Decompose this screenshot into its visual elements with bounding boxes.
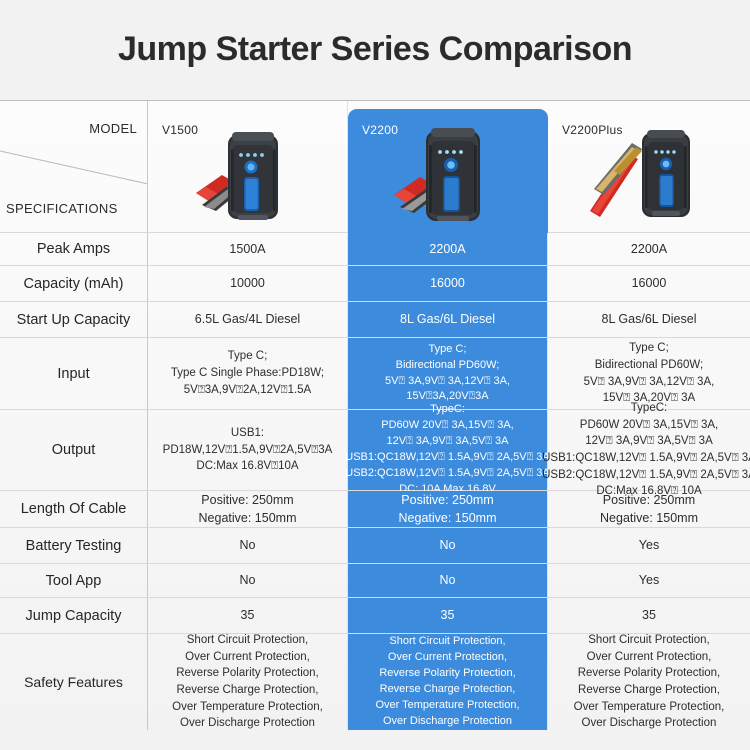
value-cell-v2200: TypeC:PD60W 20V⍰ 3A,15V⍰ 3A,12V⍰ 3A,9V⍰ … bbox=[348, 410, 548, 490]
value-line: Reverse Polarity Protection, bbox=[375, 666, 519, 682]
value-cell-v1500: No bbox=[148, 528, 348, 563]
value-line: 6.5L Gas/4L Diesel bbox=[195, 310, 300, 328]
comparison-table: MODEL SPECIFICATIONS V1500 bbox=[0, 100, 750, 750]
value-line: Yes bbox=[639, 571, 659, 589]
value-cell-v2200plus: TypeC:PD60W 20V⍰ 3A,15V⍰ 3A,12V⍰ 3A,9V⍰ … bbox=[548, 410, 750, 490]
product-column-header-v1500[interactable]: V1500 bbox=[148, 101, 348, 232]
table-row: Battery TestingNoNoYes bbox=[0, 528, 750, 564]
value-line: 5V⍰3A,9V⍰2A,12V⍰1.5A bbox=[171, 382, 324, 399]
value-line: Bidirectional PD60W; bbox=[385, 358, 510, 374]
header-corner-cell: MODEL SPECIFICATIONS bbox=[0, 101, 148, 232]
value-cell-v2200: No bbox=[348, 528, 548, 563]
value-line: No bbox=[440, 571, 456, 589]
table-body: Peak Amps1500A2200A2200ACapacity (mAh)10… bbox=[0, 233, 750, 730]
value-cell-v1500: No bbox=[148, 564, 348, 597]
value-line: 2200A bbox=[429, 240, 465, 258]
value-line: USB2:QC18W,12V⍰ 1.5A,9V⍰ 2A,5V⍰ 3A bbox=[542, 467, 750, 484]
value-line: 1500A bbox=[229, 240, 265, 258]
value-line: PD60W 20V⍰ 3A,15V⍰ 3A, bbox=[542, 417, 750, 434]
value-line: Reverse Polarity Protection, bbox=[574, 665, 725, 682]
value-line: Over Temperature Protection, bbox=[172, 699, 323, 716]
value-line: Reverse Charge Protection, bbox=[574, 682, 725, 699]
value-line: 35 bbox=[441, 606, 455, 624]
value-line: Type C; bbox=[171, 348, 324, 365]
value-line: Over Current Protection, bbox=[172, 649, 323, 666]
value-line: No bbox=[240, 536, 256, 554]
value-cell-v2200: 35 bbox=[348, 598, 548, 633]
value-cell-v2200: Positive: 250mmNegative: 150mm bbox=[348, 491, 548, 527]
value-line: Type C; bbox=[584, 340, 715, 357]
value-line: Negative: 150mm bbox=[600, 509, 698, 527]
value-cell-v2200plus: 16000 bbox=[548, 266, 750, 301]
value-line: 5V⍰ 3A,9V⍰ 3A,12V⍰ 3A, bbox=[385, 374, 510, 390]
value-cell-v1500: Positive: 250mmNegative: 150mm bbox=[148, 491, 348, 527]
value-line: PD18W,12V⍰1.5A,9V⍰2A,5V⍰3A bbox=[163, 442, 333, 459]
table-row: OutputUSB1:PD18W,12V⍰1.5A,9V⍰2A,5V⍰3ADC:… bbox=[0, 410, 750, 491]
value-line: No bbox=[440, 536, 456, 554]
value-line: 12V⍰ 3A,9V⍰ 3A,5V⍰ 3A bbox=[345, 434, 549, 450]
value-line: 12V⍰ 3A,9V⍰ 3A,5V⍰ 3A bbox=[542, 433, 750, 450]
value-cell-v2200plus: Yes bbox=[548, 564, 750, 597]
product-column-header-v2200[interactable]: V2200 bbox=[348, 101, 548, 232]
table-row: Peak Amps1500A2200A2200A bbox=[0, 233, 750, 266]
value-line: Positive: 250mm bbox=[199, 491, 297, 509]
value-line: Short Circuit Protection, bbox=[574, 632, 725, 649]
value-line: Over Current Protection, bbox=[375, 650, 519, 666]
value-cell-v2200: 2200A bbox=[348, 233, 548, 265]
value-cell-v2200: Type C;Bidirectional PD60W;5V⍰ 3A,9V⍰ 3A… bbox=[348, 338, 548, 409]
value-line: Yes bbox=[639, 536, 659, 554]
row-label: Safety Features bbox=[0, 634, 148, 730]
value-line: 8L Gas/6L Diesel bbox=[602, 310, 697, 328]
value-line: USB1: bbox=[163, 425, 333, 442]
value-cell-v2200: No bbox=[348, 564, 548, 597]
product-name-v1500: V1500 bbox=[162, 123, 198, 137]
value-cell-v1500: 35 bbox=[148, 598, 348, 633]
row-label: Peak Amps bbox=[0, 233, 148, 265]
model-label: MODEL bbox=[89, 121, 137, 136]
value-line: USB1:QC18W,12V⍰ 1.5A,9V⍰ 2A,5V⍰ 3A bbox=[542, 450, 750, 467]
product-name-v2200plus: V2200Plus bbox=[562, 123, 623, 137]
value-cell-v2200plus: 2200A bbox=[548, 233, 750, 265]
value-line: Type C; bbox=[385, 342, 510, 358]
value-cell-v2200: 8L Gas/6L Diesel bbox=[348, 302, 548, 337]
table-row: Tool AppNoNoYes bbox=[0, 564, 750, 598]
product-name-v2200: V2200 bbox=[362, 123, 398, 137]
row-label: Battery Testing bbox=[0, 528, 148, 563]
value-line: Over Temperature Protection, bbox=[574, 699, 725, 716]
value-line: Over Discharge Protection bbox=[574, 715, 725, 732]
value-cell-v2200plus: Type C;Bidirectional PD60W;5V⍰ 3A,9V⍰ 3A… bbox=[548, 338, 750, 409]
value-line: Reverse Polarity Protection, bbox=[172, 665, 323, 682]
jump-starter-v2200-image bbox=[382, 119, 514, 227]
row-label: Jump Capacity bbox=[0, 598, 148, 633]
value-cell-v1500: 10000 bbox=[148, 266, 348, 301]
value-line: TypeC: bbox=[345, 402, 549, 418]
value-line: 16000 bbox=[632, 274, 667, 292]
value-cell-v2200plus: Short Circuit Protection,Over Current Pr… bbox=[548, 634, 750, 730]
value-line: Positive: 250mm bbox=[600, 491, 698, 509]
value-cell-v1500: Type C;Type C Single Phase:PD18W;5V⍰3A,9… bbox=[148, 338, 348, 409]
value-line: TypeC: bbox=[542, 400, 750, 417]
value-line: Type C Single Phase:PD18W; bbox=[171, 365, 324, 382]
row-label: Input bbox=[0, 338, 148, 409]
value-line: No bbox=[240, 571, 256, 589]
value-line: Reverse Charge Protection, bbox=[375, 682, 519, 698]
value-cell-v2200: Short Circuit Protection,Over Current Pr… bbox=[348, 634, 548, 730]
page-title: Jump Starter Series Comparison bbox=[0, 30, 750, 69]
table-row: Jump Capacity353535 bbox=[0, 598, 750, 634]
row-label: Capacity (mAh) bbox=[0, 266, 148, 301]
value-cell-v2200plus: Positive: 250mmNegative: 150mm bbox=[548, 491, 750, 527]
table-row: Safety FeaturesShort Circuit Protection,… bbox=[0, 634, 750, 730]
product-column-header-v2200plus[interactable]: V2200Plus bbox=[548, 101, 750, 232]
value-cell-v2200plus: Yes bbox=[548, 528, 750, 563]
value-line: 5V⍰ 3A,9V⍰ 3A,12V⍰ 3A, bbox=[584, 374, 715, 391]
row-label: Length Of Cable bbox=[0, 491, 148, 527]
comparison-page: Jump Starter Series Comparison MODEL SPE… bbox=[0, 0, 750, 750]
value-line: 16000 bbox=[430, 274, 465, 292]
value-line: PD60W 20V⍰ 3A,15V⍰ 3A, bbox=[345, 418, 549, 434]
jump-starter-v1500-image bbox=[182, 119, 314, 227]
value-line: Bidirectional PD60W; bbox=[584, 357, 715, 374]
value-line: Short Circuit Protection, bbox=[375, 634, 519, 650]
table-row: Capacity (mAh)100001600016000 bbox=[0, 266, 750, 302]
value-line: Over Discharge Protection bbox=[375, 714, 519, 730]
row-label: Output bbox=[0, 410, 148, 490]
row-label: Tool App bbox=[0, 564, 148, 597]
value-line: Over Current Protection, bbox=[574, 649, 725, 666]
value-line: Negative: 150mm bbox=[199, 509, 297, 527]
value-line: Over Temperature Protection, bbox=[375, 698, 519, 714]
value-cell-v2200plus: 35 bbox=[548, 598, 750, 633]
value-cell-v1500: Short Circuit Protection,Over Current Pr… bbox=[148, 634, 348, 730]
value-line: Positive: 250mm bbox=[399, 491, 497, 509]
table-row: Length Of CablePositive: 250mmNegative: … bbox=[0, 491, 750, 528]
specifications-label: SPECIFICATIONS bbox=[6, 201, 118, 216]
value-line: Short Circuit Protection, bbox=[172, 632, 323, 649]
value-line: 8L Gas/6L Diesel bbox=[400, 310, 495, 328]
value-line: USB2:QC18W,12V⍰ 1.5A,9V⍰ 2A,5V⍰ 3A bbox=[345, 466, 549, 482]
row-label: Start Up Capacity bbox=[0, 302, 148, 337]
value-cell-v1500: 6.5L Gas/4L Diesel bbox=[148, 302, 348, 337]
value-line: Reverse Charge Protection, bbox=[172, 682, 323, 699]
table-row: Start Up Capacity6.5L Gas/4L Diesel8L Ga… bbox=[0, 302, 750, 338]
value-line: USB1:QC18W,12V⍰ 1.5A,9V⍰ 2A,5V⍰ 3A bbox=[345, 450, 549, 466]
table-header-row: MODEL SPECIFICATIONS V1500 bbox=[0, 101, 750, 233]
value-line: Over Discharge Protection bbox=[172, 715, 323, 732]
value-line: 10000 bbox=[230, 274, 265, 292]
value-line: Negative: 150mm bbox=[399, 509, 497, 527]
value-line: 35 bbox=[642, 606, 656, 624]
value-cell-v1500: USB1:PD18W,12V⍰1.5A,9V⍰2A,5V⍰3ADC:Max 16… bbox=[148, 410, 348, 490]
value-cell-v2200: 16000 bbox=[348, 266, 548, 301]
value-line: 2200A bbox=[631, 240, 667, 258]
value-line: 35 bbox=[241, 606, 255, 624]
value-cell-v1500: 1500A bbox=[148, 233, 348, 265]
value-line: DC:Max 16.8V⍰10A bbox=[163, 458, 333, 475]
value-cell-v2200plus: 8L Gas/6L Diesel bbox=[548, 302, 750, 337]
